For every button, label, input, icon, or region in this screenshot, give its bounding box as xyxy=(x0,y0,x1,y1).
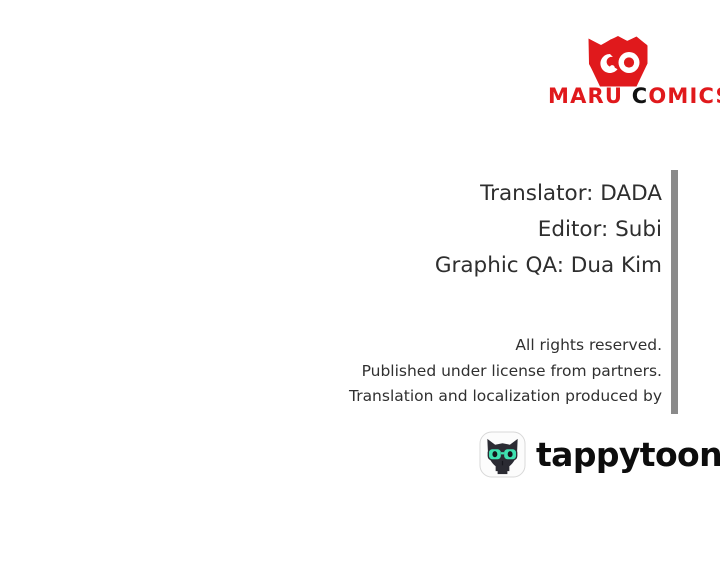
tappytoon-logo[interactable]: tappytoon xyxy=(479,428,679,480)
credit-line-translator: Translator: DADA xyxy=(300,176,662,212)
tappytoon-cat-icon xyxy=(479,431,526,478)
credit-line-graphic-qa: Graphic QA: Dua Kim xyxy=(300,248,662,284)
credits-page: MARU COMICS Translator: DADA Editor: Sub… xyxy=(0,0,720,579)
owl-head-icon xyxy=(588,36,648,88)
rights-block: All rights reserved. Published under lic… xyxy=(260,333,662,410)
publisher-wordmark: MARU COMICS xyxy=(548,86,683,107)
publisher-wordmark-omics: OMICS xyxy=(648,84,720,108)
credits-block: Translator: DADA Editor: Subi Graphic QA… xyxy=(300,176,662,284)
publisher-logo-mark xyxy=(548,36,683,88)
publisher-logo: MARU COMICS xyxy=(548,36,683,118)
rights-line-all-rights: All rights reserved. xyxy=(260,333,662,359)
credit-line-editor: Editor: Subi xyxy=(300,212,662,248)
publisher-wordmark-c: C xyxy=(632,84,649,108)
rights-line-translation: Translation and localization produced by xyxy=(260,384,662,410)
scrollbar-thumb[interactable] xyxy=(671,170,678,414)
rights-line-published: Published under license from partners. xyxy=(260,359,662,385)
tappytoon-wordmark: tappytoon xyxy=(536,438,720,471)
publisher-wordmark-maru: MARU xyxy=(548,84,632,108)
scrollbar-track[interactable] xyxy=(671,170,678,414)
